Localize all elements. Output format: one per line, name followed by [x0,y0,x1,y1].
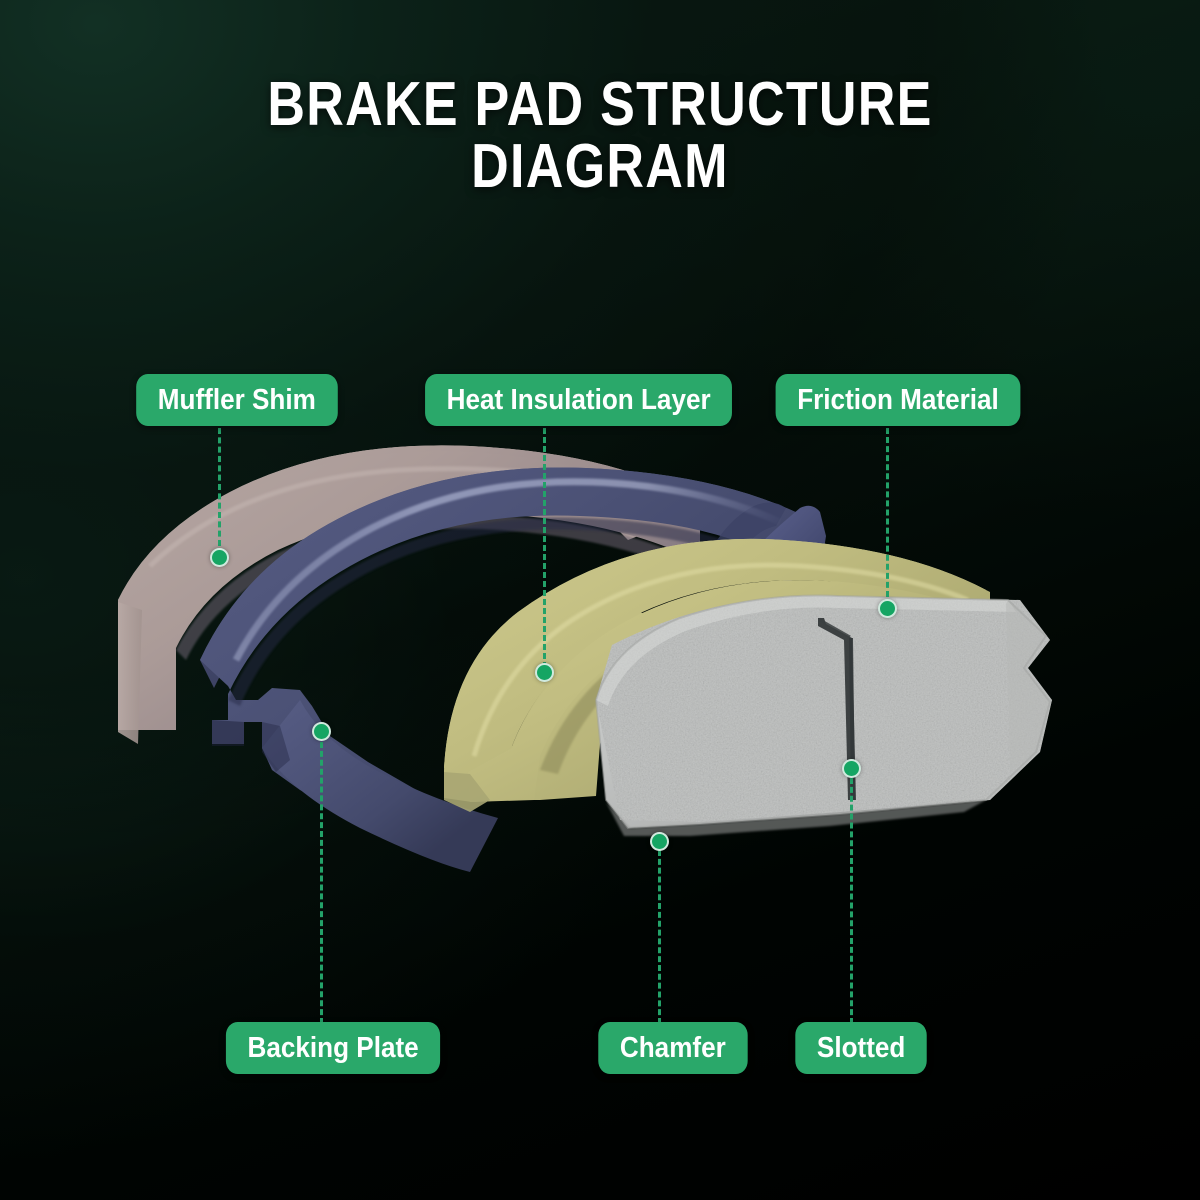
leader-line-slotted [850,778,853,1024]
hotspot-dot-heat-insulation-layer[interactable] [535,663,554,682]
leader-line-chamfer [658,850,661,1024]
hotspot-dot-friction-material[interactable] [878,599,897,618]
leader-line-heat-insulation-layer [543,428,546,668]
leader-line-friction-material [886,428,889,606]
leader-line-backing-plate [320,742,323,1024]
leader-line-muffler-shim [218,428,221,546]
hotspot-dot-slotted[interactable] [842,759,861,778]
label-heat-insulation-layer[interactable]: Heat Insulation Layer [425,374,732,426]
hotspot-dot-muffler-shim[interactable] [210,548,229,567]
hotspot-dot-backing-plate[interactable] [312,722,331,741]
label-chamfer[interactable]: Chamfer [598,1022,747,1074]
label-slotted[interactable]: Slotted [795,1022,927,1074]
label-backing-plate[interactable]: Backing Plate [226,1022,440,1074]
hotspot-dot-chamfer[interactable] [650,832,669,851]
label-friction-material[interactable]: Friction Material [776,374,1021,426]
brake-pad-exploded-illustration [0,0,1200,1200]
diagram-canvas: BRAKE PAD STRUCTURE DIAGRAM [0,0,1200,1200]
label-muffler-shim[interactable]: Muffler Shim [136,374,337,426]
